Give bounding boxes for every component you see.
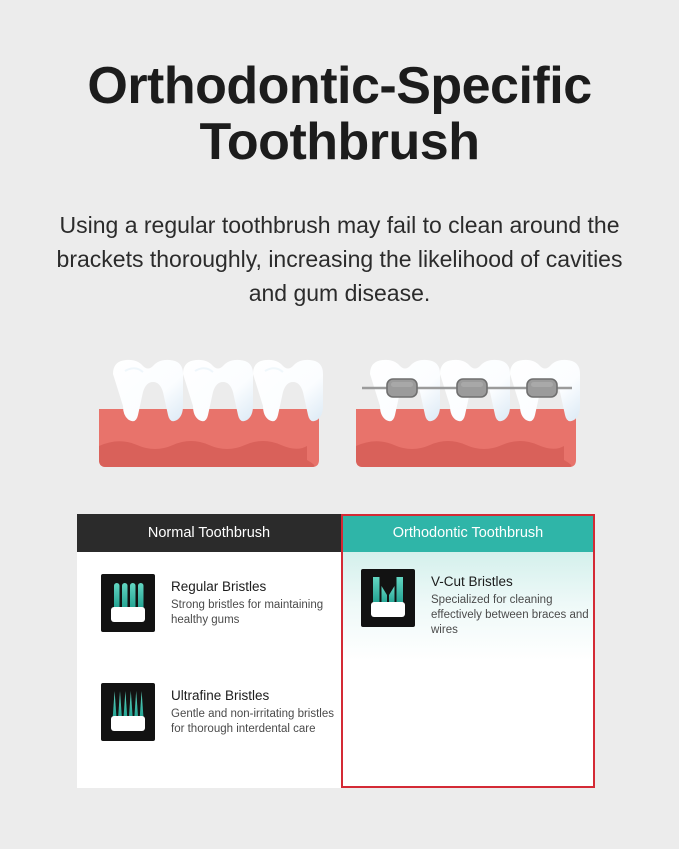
feature-title: Ultrafine Bristles — [171, 687, 339, 704]
regular-bristles-icon — [101, 574, 155, 632]
column-normal-toothbrush: Regular Bristles Strong bristles for mai… — [77, 552, 341, 788]
ultrafine-bristles-icon — [101, 683, 155, 741]
comparison-table: Normal Toothbrush Orthodontic Toothbrush — [77, 514, 595, 788]
column-header-orthodontic-toothbrush: Orthodontic Toothbrush — [341, 514, 595, 552]
feature-description: Strong bristles for maintaining healthy … — [171, 598, 339, 628]
bracket-group — [387, 379, 557, 397]
comparison-table-body: Regular Bristles Strong bristles for mai… — [77, 552, 595, 788]
feature-title: V-Cut Bristles — [431, 573, 591, 590]
v-cut-bristles-icon — [361, 569, 415, 627]
feature-description: Gentle and non-irritating bristles for t… — [171, 707, 339, 737]
feature-row-regular-bristles: Regular Bristles Strong bristles for mai… — [101, 574, 339, 632]
column-header-normal-toothbrush: Normal Toothbrush — [77, 514, 341, 552]
feature-row-v-cut-bristles: V-Cut Bristles Specialized for cleaning … — [361, 569, 591, 638]
comparison-table-header: Normal Toothbrush Orthodontic Toothbrush — [77, 514, 595, 552]
page-title: Orthodontic-Specific Toothbrush — [0, 58, 679, 170]
feature-row-ultrafine-bristles: Ultrafine Bristles Gentle and non-irrita… — [101, 683, 339, 741]
feature-title: Regular Bristles — [171, 578, 339, 595]
column-orthodontic-toothbrush: V-Cut Bristles Specialized for cleaning … — [341, 552, 595, 788]
feature-description: Specialized for cleaning effectively bet… — [431, 593, 591, 638]
product-infographic-page: Orthodontic-Specific Toothbrush Using a … — [0, 0, 679, 849]
teeth-without-braces-illustration — [95, 348, 323, 471]
teeth-with-braces-illustration — [352, 348, 580, 471]
page-subtitle: Using a regular toothbrush may fail to c… — [52, 208, 627, 310]
